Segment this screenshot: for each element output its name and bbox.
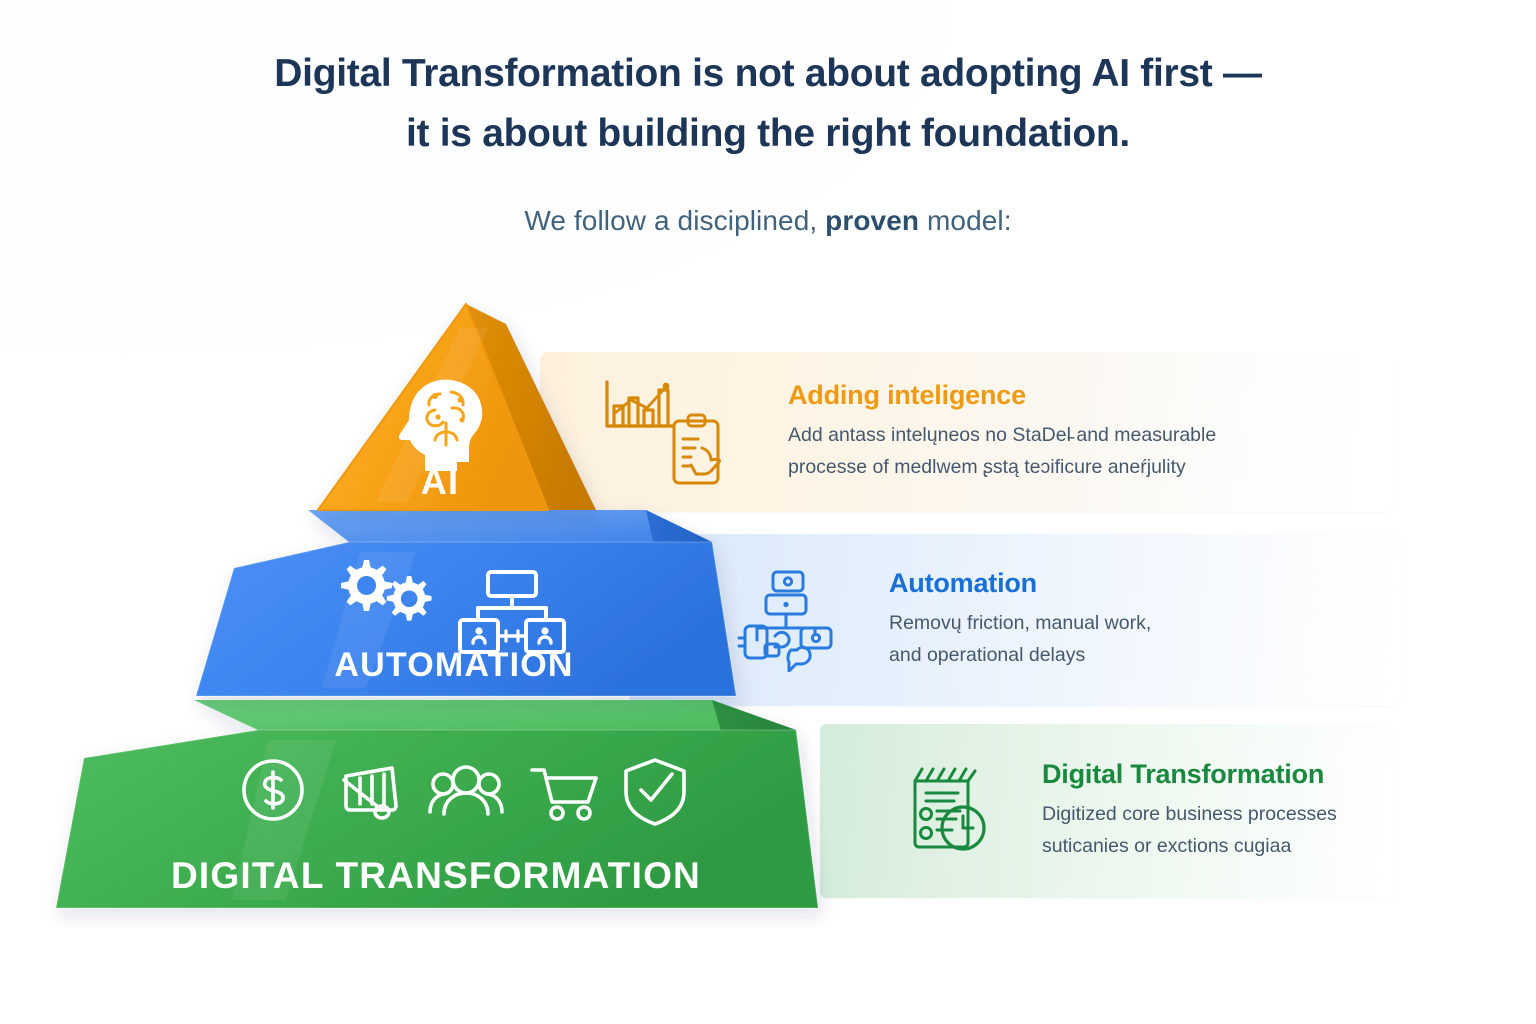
panel-automation-title: Automation — [889, 568, 1400, 599]
headline-line-1: Digital Transformation is not about adop… — [274, 52, 1261, 95]
panel-automation-desc-line-2: and operational delays — [889, 640, 1400, 672]
subhead-text-before: We follow a disciplined, — [524, 205, 825, 236]
panel-dt-text: Digital Transformation Digitized core bu… — [1042, 759, 1396, 862]
panel-automation-description: Removų friction, manual work, and operat… — [889, 608, 1400, 671]
infographic-canvas: Digital Transformation is not about adop… — [0, 0, 1536, 1024]
panel-automation-desc-line-1: Removų friction, manual work, — [889, 608, 1400, 640]
dt-tier-label: DIGITAL TRANSFORMATION — [171, 855, 701, 896]
panel-automation-text: Automation Removų friction, manual work,… — [889, 568, 1400, 671]
ai-tier-label: AI — [421, 461, 459, 502]
panel-dt-icons — [906, 765, 998, 857]
checklist-clock-icon — [906, 765, 992, 857]
page-subheadline: We follow a disciplined, proven model: — [0, 205, 1536, 237]
page-headline: Digital Transformation is not about adop… — [0, 44, 1536, 165]
subhead-text-after: model: — [919, 205, 1012, 236]
dt-tier-top-face — [194, 700, 796, 730]
headline-line-2: it is about building the right foundatio… — [120, 104, 1416, 164]
panel-dt-description: Digitized core business processes sutica… — [1042, 799, 1396, 862]
pyramid-diagram: DIGITAL TRANSFORMATION — [36, 288, 916, 928]
panel-dt-desc-line-2: suticanies or exctions cugiaa — [1042, 831, 1396, 863]
panel-dt-title: Digital Transformation — [1042, 759, 1396, 790]
panel-dt-desc-line-1: Digitized core business processes — [1042, 799, 1396, 831]
automation-tier-label: AUTOMATION — [334, 646, 573, 684]
subhead-emphasis: proven — [825, 205, 919, 236]
